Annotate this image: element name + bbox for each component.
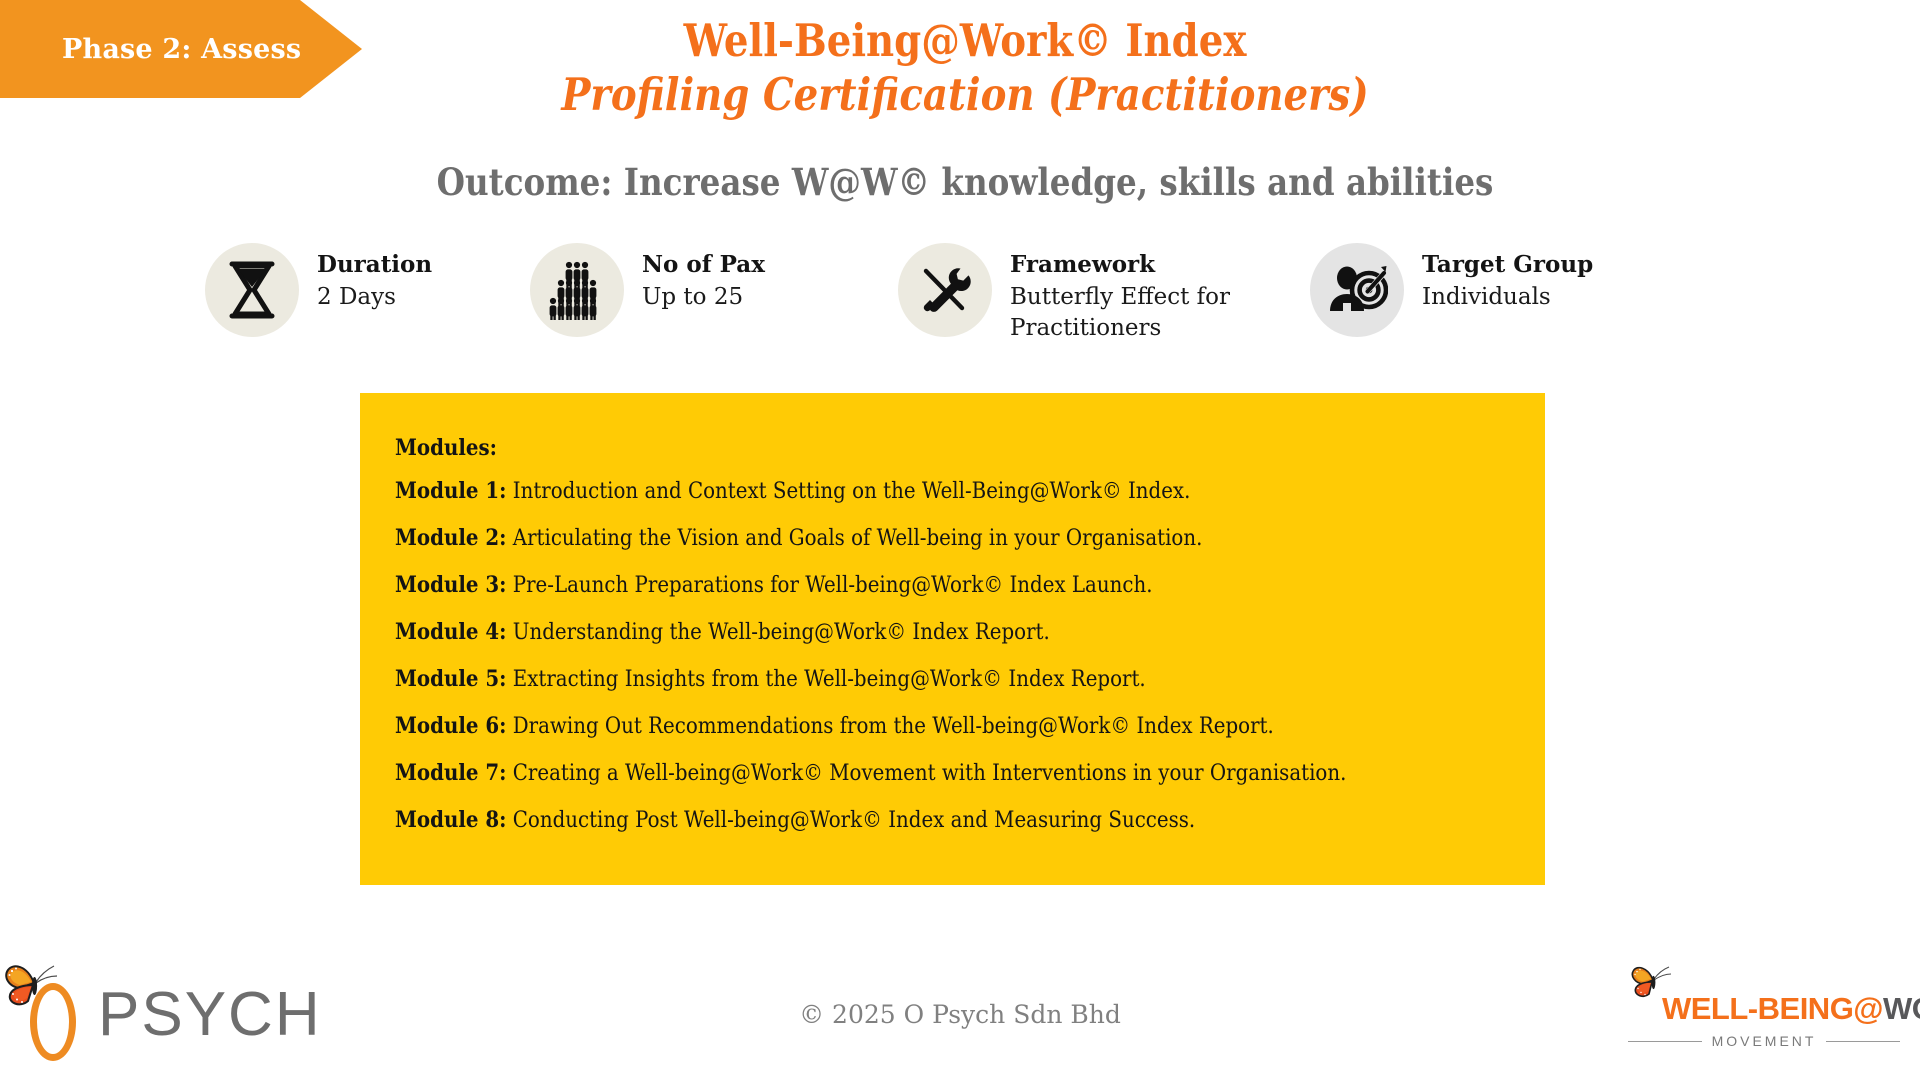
group-of-people-icon: [530, 243, 624, 337]
opsych-logo: PSYCH: [22, 975, 322, 1061]
opsych-wordmark: PSYCH: [98, 984, 322, 1052]
footer-copyright: © 2025 O Psych Sdn Bhd: [660, 1000, 1260, 1029]
waw-logo-row: WELL-BEING@WORK©: [1628, 978, 1900, 1024]
info-value: Butterfly Effect for Practitioners: [1010, 282, 1230, 343]
module-list-item: Module 4: Understanding the Well-being@W…: [395, 621, 1430, 644]
module-description: Conducting Post Well-being@Work© Index a…: [506, 808, 1195, 833]
info-item-no-of-pax: No of Pax Up to 25: [530, 243, 765, 337]
info-text-target-group: Target Group Individuals: [1422, 243, 1593, 313]
module-key: Module 7:: [395, 760, 506, 786]
person-target-icon: [1310, 243, 1404, 337]
phase-banner: Phase 2: Assess: [0, 0, 362, 98]
info-label: No of Pax: [642, 250, 765, 279]
opsych-o-mark: [22, 975, 84, 1061]
butterfly-icon: [1628, 964, 1674, 1007]
info-value-line: Up to 25: [642, 282, 765, 313]
module-list-item: Module 8: Conducting Post Well-being@Wor…: [395, 809, 1430, 832]
info-text-no-of-pax: No of Pax Up to 25: [642, 243, 765, 313]
info-label: Target Group: [1422, 250, 1593, 279]
waw-tagline: MOVEMENT: [1712, 1033, 1817, 1049]
module-description: Creating a Well-being@Work© Movement wit…: [506, 761, 1346, 786]
module-description: Articulating the Vision and Goals of Wel…: [506, 526, 1202, 551]
page-title: Well-Being@Work© Index: [445, 14, 1486, 67]
butterfly-icon: [0, 961, 62, 1016]
info-item-duration: Duration 2 Days: [205, 243, 432, 337]
module-list-item: Module 1: Introduction and Context Setti…: [395, 480, 1430, 503]
module-key: Module 6:: [395, 713, 506, 739]
module-key: Module 1:: [395, 478, 506, 504]
info-value-line: 2 Days: [317, 282, 432, 313]
info-value: Up to 25: [642, 282, 765, 313]
hammer-and-wrench-icon: [898, 243, 992, 337]
info-value: Individuals: [1422, 282, 1593, 313]
info-text-framework: Framework Butterfly Effect for Practitio…: [1010, 243, 1230, 344]
outcome-statement: Outcome: Increase W@W© knowledge, skills…: [380, 160, 1550, 204]
info-item-target-group: Target Group Individuals: [1310, 243, 1593, 337]
module-description: Understanding the Well-being@Work© Index…: [506, 620, 1049, 645]
info-text-duration: Duration 2 Days: [317, 243, 432, 313]
title-block: Well-Being@Work© Index Profiling Certifi…: [360, 14, 1570, 123]
module-key: Module 8:: [395, 807, 506, 833]
info-item-framework: Framework Butterfly Effect for Practitio…: [898, 243, 1230, 344]
well-being-at-work-logo: WELL-BEING@WORK© MOVEMENT: [1628, 978, 1900, 1049]
module-key: Module 3:: [395, 572, 506, 598]
module-description: Extracting Insights from the Well-being@…: [506, 667, 1145, 692]
modules-panel: Modules: Module 1: Introduction and Cont…: [360, 393, 1545, 885]
module-description: Pre-Launch Preparations for Well-being@W…: [506, 573, 1152, 598]
info-row: Duration 2 Days: [205, 243, 1735, 363]
module-list-item: Module 5: Extracting Insights from the W…: [395, 668, 1430, 691]
waw-wordmark-grey: WORK: [1883, 991, 1920, 1026]
modules-heading: Modules:: [395, 435, 1430, 461]
info-value-line: Butterfly Effect for: [1010, 282, 1230, 313]
module-key: Module 4:: [395, 619, 506, 645]
module-list-item: Module 6: Drawing Out Recommendations fr…: [395, 715, 1430, 738]
page-subtitle: Profiling Certification (Practitioners): [445, 67, 1486, 123]
hourglass-icon: [205, 243, 299, 337]
info-value-line: Individuals: [1422, 282, 1593, 313]
module-list-item: Module 3: Pre-Launch Preparations for We…: [395, 574, 1430, 597]
info-value-line: Practitioners: [1010, 313, 1230, 344]
waw-wordmark-orange: WELL-BEING@: [1662, 991, 1883, 1026]
info-label: Duration: [317, 250, 432, 279]
slide-root: Phase 2: Assess Well-Being@Work© Index P…: [0, 0, 1920, 1080]
divider-left: [1628, 1041, 1702, 1042]
waw-tagline-row: MOVEMENT: [1628, 1033, 1900, 1049]
waw-wordmark: WELL-BEING@WORK©: [1662, 993, 1920, 1024]
phase-banner-label: Phase 2: Assess: [62, 34, 301, 65]
module-description: Drawing Out Recommendations from the Wel…: [506, 714, 1273, 739]
module-list-item: Module 2: Articulating the Vision and Go…: [395, 527, 1430, 550]
module-key: Module 2:: [395, 525, 506, 551]
info-label: Framework: [1010, 250, 1230, 279]
module-description: Introduction and Context Setting on the …: [506, 479, 1190, 504]
info-value: 2 Days: [317, 282, 432, 313]
module-key: Module 5:: [395, 666, 506, 692]
divider-right: [1826, 1041, 1900, 1042]
module-list-item: Module 7: Creating a Well-being@Work© Mo…: [395, 762, 1430, 785]
